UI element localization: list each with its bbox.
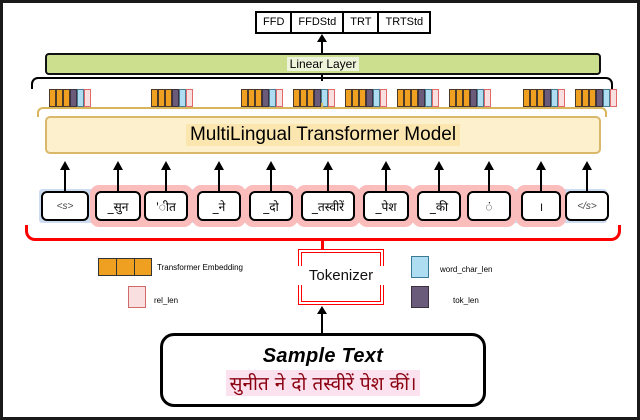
embedding-cell-rel: [84, 89, 91, 107]
embedding-cell-rel: [558, 89, 565, 107]
embedding-cell-orange: [530, 89, 537, 107]
embedding-cell-orange: [463, 89, 470, 107]
embedding-cell-orange: [411, 89, 418, 107]
token-box: 'ीत: [144, 191, 188, 221]
embedding-cell-orange: [63, 89, 70, 107]
embedding-group: [397, 89, 439, 107]
embedding-cell-tok: [70, 89, 77, 107]
embedding-cell-tok: [596, 89, 603, 107]
token-box: ं: [467, 191, 511, 221]
output-labels-row: FFD FFDStd TRT TRTStd: [255, 11, 431, 34]
legend-label-transformer-embedding: Transformer Embedding: [157, 263, 243, 272]
sample-text-box: Sample Text सुनीत ने दो तस्वीरें पेश कीं…: [160, 333, 486, 407]
diagram-canvas: FFD FFDStd TRT TRTStd Linear Layer Multi…: [0, 0, 640, 420]
embedding-cell-tok: [314, 89, 321, 107]
embedding-group: [241, 89, 283, 107]
token-box: _सुन: [95, 191, 141, 221]
embedding-cell-tok: [366, 89, 373, 107]
embedding-cell-orange: [151, 89, 158, 107]
token-box: _ने: [197, 191, 241, 221]
token-box: _दो: [249, 191, 293, 221]
embedding-cell-rel: [328, 89, 335, 107]
legend-label-tok-len: tok_len: [453, 296, 479, 305]
arrow-token-to-transformer-line: [218, 169, 220, 191]
token-box: _की: [417, 191, 461, 221]
embedding-cell-wcl: [477, 89, 484, 107]
arrow-token-to-transformer-head: [536, 161, 546, 170]
embedding-cell-orange: [449, 89, 456, 107]
legend-swatch-transformer-embedding: [98, 258, 152, 276]
embedding-group: [345, 89, 387, 107]
arrow-token-to-transformer-line: [540, 169, 542, 191]
embeddings-to-linear-stem: [321, 75, 323, 81]
embedding-cell-orange: [456, 89, 463, 107]
embedding-cell-rel: [610, 89, 617, 107]
embedding-cell-orange: [307, 89, 314, 107]
embedding-cell-wcl: [603, 89, 610, 107]
embedding-cell-orange: [345, 89, 352, 107]
embedding-cell-orange: [352, 89, 359, 107]
output-label-trtstd: TRTStd: [379, 13, 429, 32]
embedding-cell-wcl: [373, 89, 380, 107]
embedding-cell-orange: [255, 89, 262, 107]
arrow-token-to-transformer-head: [60, 161, 70, 170]
transformer-model-box: MultiLingual Transformer Model: [45, 116, 601, 154]
transformer-model-label: MultiLingual Transformer Model: [186, 124, 460, 146]
arrow-token-to-transformer-line: [488, 169, 490, 191]
embedding-group: [151, 89, 193, 107]
arrow-token-to-transformer-head: [582, 161, 592, 170]
embedding-cell-tok: [544, 89, 551, 107]
embedding-group: [49, 89, 91, 107]
embedding-cell-wcl: [77, 89, 84, 107]
token-box: _तस्वीरें: [301, 191, 355, 221]
arrow-token-to-transformer-line: [438, 169, 440, 191]
embedding-cell-orange: [404, 89, 411, 107]
output-label-trt: TRT: [344, 13, 379, 32]
token-box: </s>: [565, 191, 609, 221]
embedding-cell-wcl: [425, 89, 432, 107]
arrow-token-to-transformer-head: [266, 161, 276, 170]
embedding-cell-orange: [589, 89, 596, 107]
linear-layer-box: Linear Layer: [45, 53, 601, 75]
arrow-token-to-transformer-head: [323, 161, 333, 170]
arrow-token-to-transformer-line: [64, 169, 66, 191]
arrow-token-to-transformer-line: [117, 169, 119, 191]
arrow-token-to-transformer-line: [385, 169, 387, 191]
arrow-token-to-transformer-head: [434, 161, 444, 170]
tokens-to-tokenizer-stem: [321, 239, 324, 249]
embedding-cell-orange: [582, 89, 589, 107]
arrow-sample-to-tokenizer-head: [317, 306, 327, 314]
linear-layer-label: Linear Layer: [287, 57, 360, 71]
embedding-group: [293, 89, 335, 107]
embedding-cell-rel: [276, 89, 283, 107]
embedding-cell-orange: [575, 89, 582, 107]
embedding-cell-orange: [241, 89, 248, 107]
legend-swatch-tok-len: [411, 286, 429, 308]
sample-text-title: Sample Text: [263, 345, 383, 368]
output-label-ffd: FFD: [257, 13, 292, 32]
embedding-group: [523, 89, 565, 107]
embedding-cell-orange: [300, 89, 307, 107]
embedding-cell-orange: [397, 89, 404, 107]
legend-label-word-char-len: word_char_len: [440, 265, 492, 274]
token-box: ।: [521, 191, 561, 221]
embedding-cell-wcl: [269, 89, 276, 107]
embedding-cell-orange: [359, 89, 366, 107]
token-box: <s>: [41, 191, 89, 221]
legend-label-rel-len: rel_len: [154, 296, 178, 305]
embedding-cell-tok: [262, 89, 269, 107]
embedding-cell-orange: [49, 89, 56, 107]
embedding-cell-tok: [470, 89, 477, 107]
embedding-cell-orange: [293, 89, 300, 107]
embedding-cell-rel: [380, 89, 387, 107]
sample-text-content: सुनीत ने दो तस्वीरें पेश कीं।: [226, 370, 421, 396]
transformer-to-embeddings-stem: [321, 103, 323, 109]
embedding-cell-orange: [537, 89, 544, 107]
token-row: <s>_सुन'ीत_ने_दो_तस्वीरें_पेश_कीं।</s>: [3, 155, 640, 225]
output-label-ffdstd: FFDStd: [292, 13, 344, 32]
tokenizer-label: Tokenizer: [289, 266, 393, 285]
arrow-token-to-transformer-head: [484, 161, 494, 170]
legend-swatch-rel-len: [128, 286, 146, 308]
embedding-cell-orange: [165, 89, 172, 107]
arrow-token-to-transformer-line: [586, 169, 588, 191]
token-box: _पेश: [363, 191, 409, 221]
embedding-cell-rel: [432, 89, 439, 107]
arrow-token-to-transformer-line: [165, 169, 167, 191]
arrow-token-to-transformer-head: [161, 161, 171, 170]
embedding-cell-tok: [172, 89, 179, 107]
embedding-cell-orange: [523, 89, 530, 107]
embedding-group: [575, 89, 617, 107]
embedding-cell-rel: [484, 89, 491, 107]
embedding-strip: [31, 89, 615, 109]
legend-swatch-word-char-len: [411, 256, 429, 278]
arrow-sample-to-tokenizer-line: [321, 313, 323, 333]
embedding-cell-orange: [56, 89, 63, 107]
embedding-group: [449, 89, 491, 107]
arrow-token-to-transformer-head: [381, 161, 391, 170]
embedding-cell-tok: [418, 89, 425, 107]
embedding-cell-orange: [158, 89, 165, 107]
embedding-cell-orange: [248, 89, 255, 107]
arrow-token-to-transformer-line: [270, 169, 272, 191]
embedding-cell-wcl: [179, 89, 186, 107]
embedding-cell-rel: [186, 89, 193, 107]
arrow-token-to-transformer-head: [113, 161, 123, 170]
arrow-linear-to-output-head: [317, 34, 327, 42]
arrow-token-to-transformer-head: [214, 161, 224, 170]
embedding-cell-wcl: [551, 89, 558, 107]
arrow-token-to-transformer-line: [327, 169, 329, 191]
